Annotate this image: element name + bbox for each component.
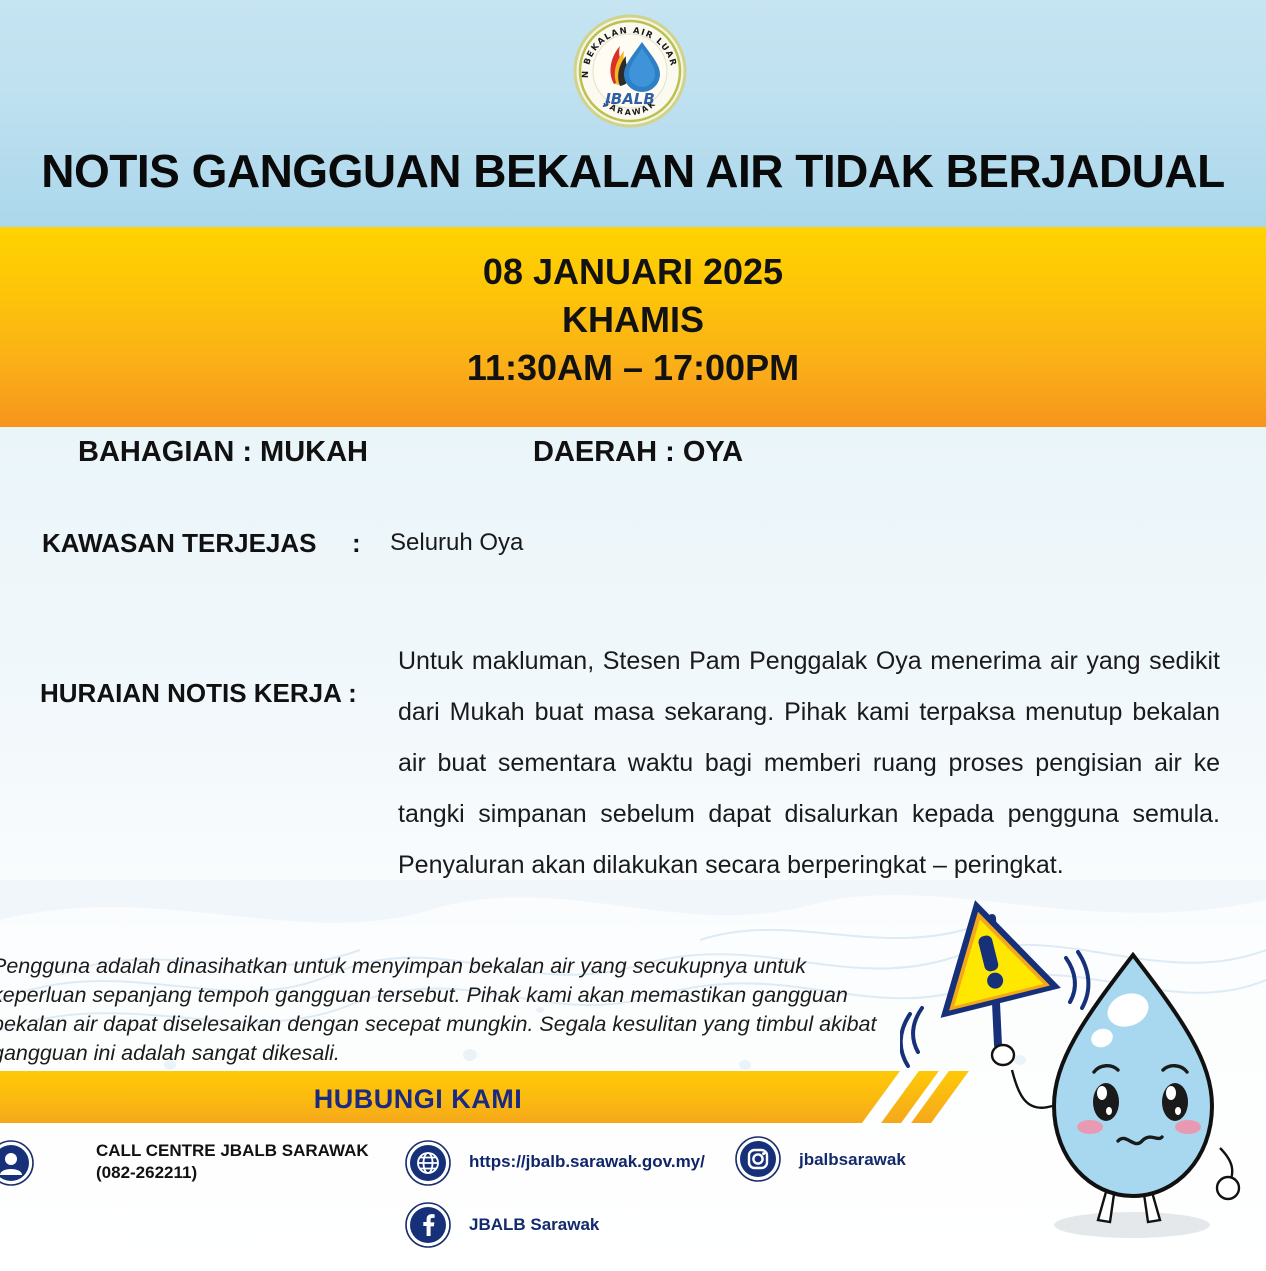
header-banner: JABATAN BEKALAN AIR LUAR BANDAR SARAWAK … (0, 0, 1266, 227)
daerah-text: DAERAH : OYA (533, 436, 743, 469)
contact-website[interactable]: https://jbalb.sarawak.gov.my/ (405, 1140, 705, 1186)
notice-day: KHAMIS (0, 299, 1266, 341)
facebook-page: JBALB Sarawak (469, 1214, 599, 1236)
svg-text:JBALB: JBALB (602, 90, 655, 108)
hubungi-kami-title: HUBUNGI KAMI (0, 1084, 836, 1115)
person-icon (0, 1140, 34, 1186)
contact-facebook[interactable]: JBALB Sarawak (405, 1202, 599, 1248)
bahagian-text: BAHAGIAN : MUKAH (78, 436, 368, 469)
instagram-icon (735, 1136, 781, 1182)
jbalb-logo: JABATAN BEKALAN AIR LUAR BANDAR SARAWAK … (571, 12, 689, 130)
facebook-icon (405, 1202, 451, 1248)
website-url: https://jbalb.sarawak.gov.my/ (469, 1151, 705, 1173)
hubungi-kami-banner: HUBUNGI KAMI (0, 1071, 900, 1123)
notice-poster: JABATAN BEKALAN AIR LUAR BANDAR SARAWAK … (0, 0, 1266, 1271)
kawasan-terjejas-value: Seluruh Oya (390, 529, 523, 557)
kawasan-colon: : (352, 528, 361, 559)
disclaimer-text: Pengguna adalah dinasihatkan untuk menyi… (0, 952, 892, 1068)
contact-instagram[interactable]: jbalbsarawak (735, 1136, 906, 1182)
date-band: 08 JANUARI 2025 KHAMIS 11:30AM – 17:00PM (0, 227, 1266, 427)
page-title: NOTIS GANGGUAN BEKALAN AIR TIDAK BERJADU… (0, 144, 1266, 198)
notice-time: 11:30AM – 17:00PM (0, 347, 1266, 389)
huraian-notis-kerja-body: Untuk makluman, Stesen Pam Penggalak Oya… (398, 636, 1220, 891)
call-centre-line1: CALL CENTRE JBALB SARAWAK (96, 1140, 369, 1162)
instagram-handle: jbalbsarawak (799, 1149, 906, 1171)
notice-date: 08 JANUARI 2025 (0, 251, 1266, 293)
kawasan-terjejas-label: KAWASAN TERJEJAS (42, 528, 317, 559)
contact-call-centre[interactable]: CALL CENTRE JBALB SARAWAK (082-262211) (0, 1140, 369, 1186)
globe-icon (405, 1140, 451, 1186)
call-centre-line2: (082-262211) (96, 1162, 369, 1184)
huraian-notis-kerja-label: HURAIAN NOTIS KERJA : (40, 678, 357, 709)
